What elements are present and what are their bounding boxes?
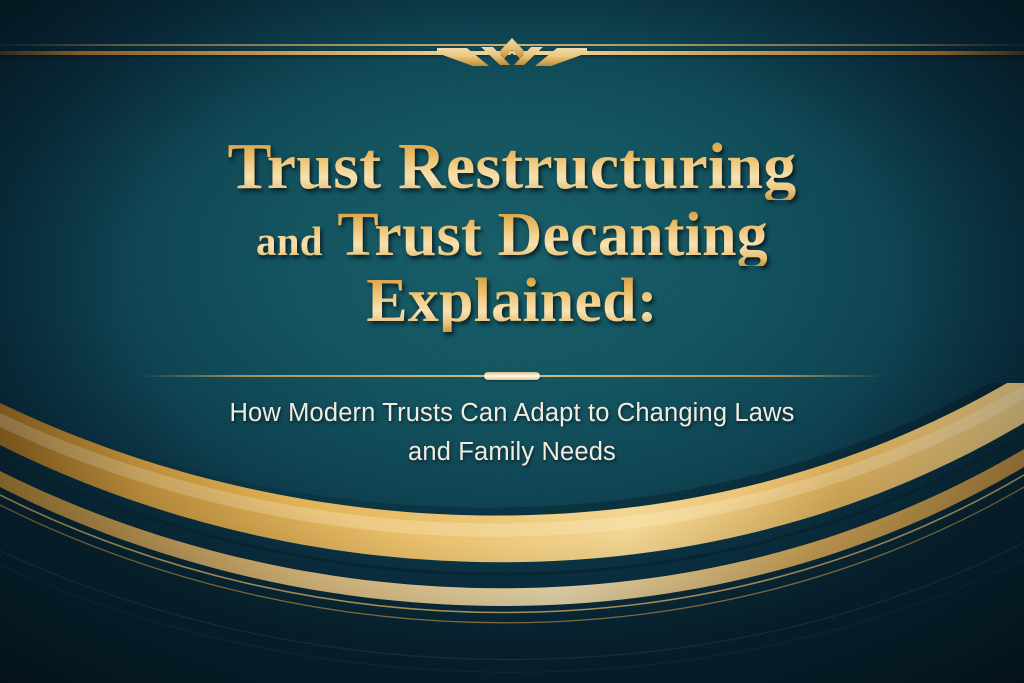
gold-swoosh-ribbons-icon [0,383,1024,683]
lozenge-divider-ornament-icon [484,372,540,380]
title-line-3: Explained: [0,270,1024,332]
title-slide: Trust Restructuring and Trust Decanting … [0,0,1024,683]
title-line-2-lead: and [256,218,323,264]
title-divider [140,372,884,380]
title-line-2-main: Trust Decanting [337,201,768,269]
gold-swoosh-ribbons-decor [0,383,1024,683]
title-line-1: Trust Restructuring [0,134,1024,200]
title-line-2: and Trust Decanting [0,204,1024,266]
title-block: Trust Restructuring and Trust Decanting … [0,134,1024,336]
top-ornament-rule [0,36,1024,70]
crown-chevron-ornament-icon [437,34,587,72]
